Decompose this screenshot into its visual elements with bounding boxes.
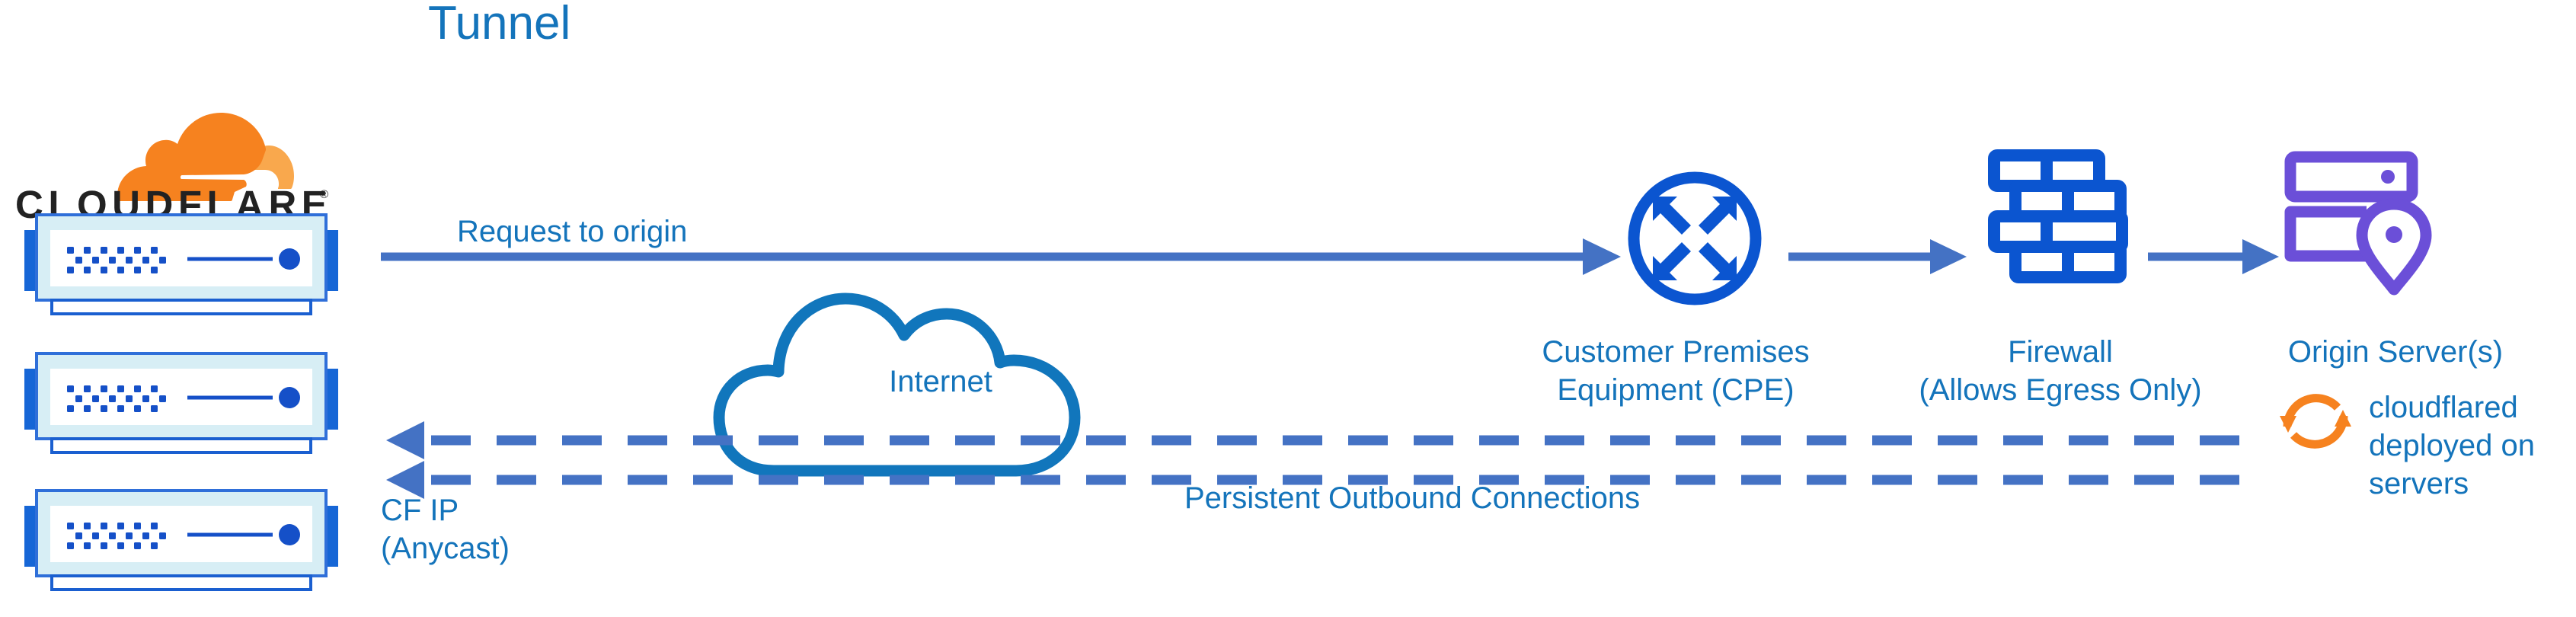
label-cpe-line1: Customer Premises (1504, 333, 1847, 371)
cloudflare-logo: CLOUDFLARE ® (15, 105, 335, 227)
circular-refresh-arrows-icon (2274, 379, 2357, 463)
label-cloudflared-line3: servers (2369, 465, 2567, 503)
dashed-connection-upper (386, 421, 2239, 459)
label-origin-line1: Origin Server(s) (2236, 333, 2555, 371)
label-origin-server: Origin Server(s) (2236, 333, 2555, 371)
label-cpe-line2: Equipment (CPE) (1504, 371, 1847, 409)
internet-cloud-icon (708, 229, 1181, 480)
svg-text:®: ® (320, 188, 328, 201)
server-rack (14, 212, 349, 322)
server-rack (14, 350, 349, 461)
brick-wall-icon (1980, 145, 2133, 297)
label-cloudflared-line1: cloudflared (2369, 388, 2567, 427)
four-arrows-circle-icon (1622, 166, 1767, 311)
label-firewall-line1: Firewall (1889, 333, 2232, 371)
label-cf-ip-line1: CF IP (381, 491, 625, 529)
arrow-firewall-to-origin (2148, 239, 2279, 274)
server-location-pin-icon (2281, 143, 2449, 311)
label-cf-ip-anycast: CF IP (Anycast) (381, 491, 625, 567)
label-request-to-origin: Request to origin (457, 213, 914, 250)
server-rack (14, 488, 349, 598)
label-cpe: Customer Premises Equipment (CPE) (1504, 333, 1847, 409)
label-persistent-outbound-connections: Persistent Outbound Connections (1184, 480, 1763, 516)
page-title: Tunnel (428, 0, 570, 50)
label-firewall: Firewall (Allows Egress Only) (1889, 333, 2232, 409)
label-cf-ip-line2: (Anycast) (381, 529, 625, 567)
arrow-cpe-to-firewall (1788, 239, 1967, 274)
label-cloudflared: cloudflared deployed on servers (2369, 388, 2567, 503)
label-firewall-line2: (Allows Egress Only) (1889, 371, 2232, 409)
label-cloudflared-line2: deployed on (2369, 427, 2567, 465)
label-internet: Internet (773, 363, 1108, 400)
